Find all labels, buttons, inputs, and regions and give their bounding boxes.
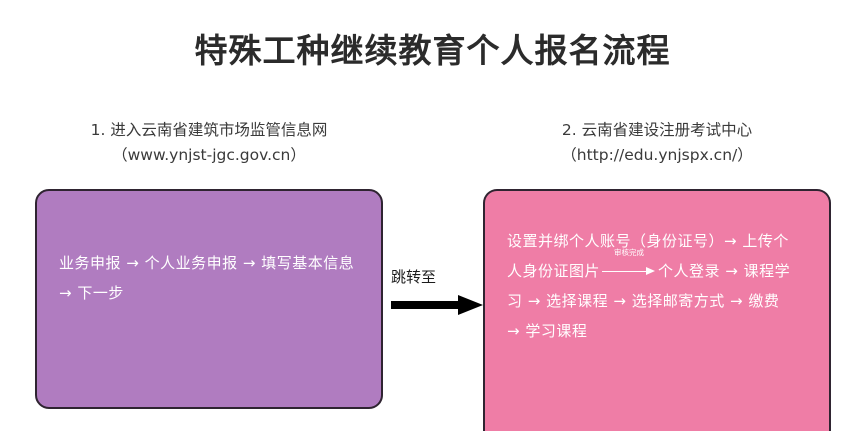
annot-arrow-head	[646, 267, 655, 275]
page-title: 特殊工种继续教育个人报名流程	[0, 24, 865, 72]
right-process-line-2: 人身份证图片审核完成个人登录 → 课程学	[507, 256, 813, 286]
flowchart-diagram: 特殊工种继续教育个人报名流程 1. 进入云南省建筑市场监管信息网 （www.yn…	[0, 0, 865, 431]
left-process-steps: 业务申报 → 个人业务申报 → 填写基本信息 → 下一步	[59, 248, 361, 308]
left-step-caption-title: 1. 进入云南省建筑市场监管信息网	[35, 118, 383, 143]
review-complete-arrow-icon: 审核完成	[602, 265, 656, 279]
right-process-line-2-before: 人身份证图片	[507, 262, 600, 280]
left-step-caption: 1. 进入云南省建筑市场监管信息网 （www.ynjst-jgc.gov.cn）	[35, 118, 383, 168]
right-process-line-4: → 学习课程	[507, 316, 813, 346]
right-process-box: 设置并绑个人账号（身份证号）→ 上传个 人身份证图片审核完成个人登录 → 课程学…	[483, 189, 831, 431]
left-process-line-2: → 下一步	[59, 278, 361, 308]
left-step-caption-url: （www.ynjst-jgc.gov.cn）	[35, 143, 383, 168]
right-step-caption-title: 2. 云南省建设注册考试中心	[483, 118, 831, 143]
arrow-shaft	[391, 301, 461, 309]
right-step-caption: 2. 云南省建设注册考试中心 （http://edu.ynjspx.cn/）	[483, 118, 831, 168]
left-process-line-1: 业务申报 → 个人业务申报 → 填写基本信息	[59, 248, 361, 278]
connector-label: 跳转至	[391, 266, 469, 287]
right-process-line-2-after: 个人登录 → 课程学	[658, 262, 790, 280]
annot-arrow-shaft	[602, 271, 648, 273]
arrow-right-icon	[391, 296, 483, 314]
right-process-line-3: 习 → 选择课程 → 选择邮寄方式 → 缴费	[507, 286, 813, 316]
right-step-caption-url: （http://edu.ynjspx.cn/）	[483, 143, 831, 168]
left-process-box: 业务申报 → 个人业务申报 → 填写基本信息 → 下一步	[35, 189, 383, 409]
right-process-steps: 设置并绑个人账号（身份证号）→ 上传个 人身份证图片审核完成个人登录 → 课程学…	[507, 226, 813, 346]
review-complete-label: 审核完成	[602, 248, 656, 257]
arrow-head	[458, 295, 483, 315]
right-process-line-1: 设置并绑个人账号（身份证号）→ 上传个	[507, 226, 813, 256]
connector: 跳转至	[391, 266, 483, 318]
